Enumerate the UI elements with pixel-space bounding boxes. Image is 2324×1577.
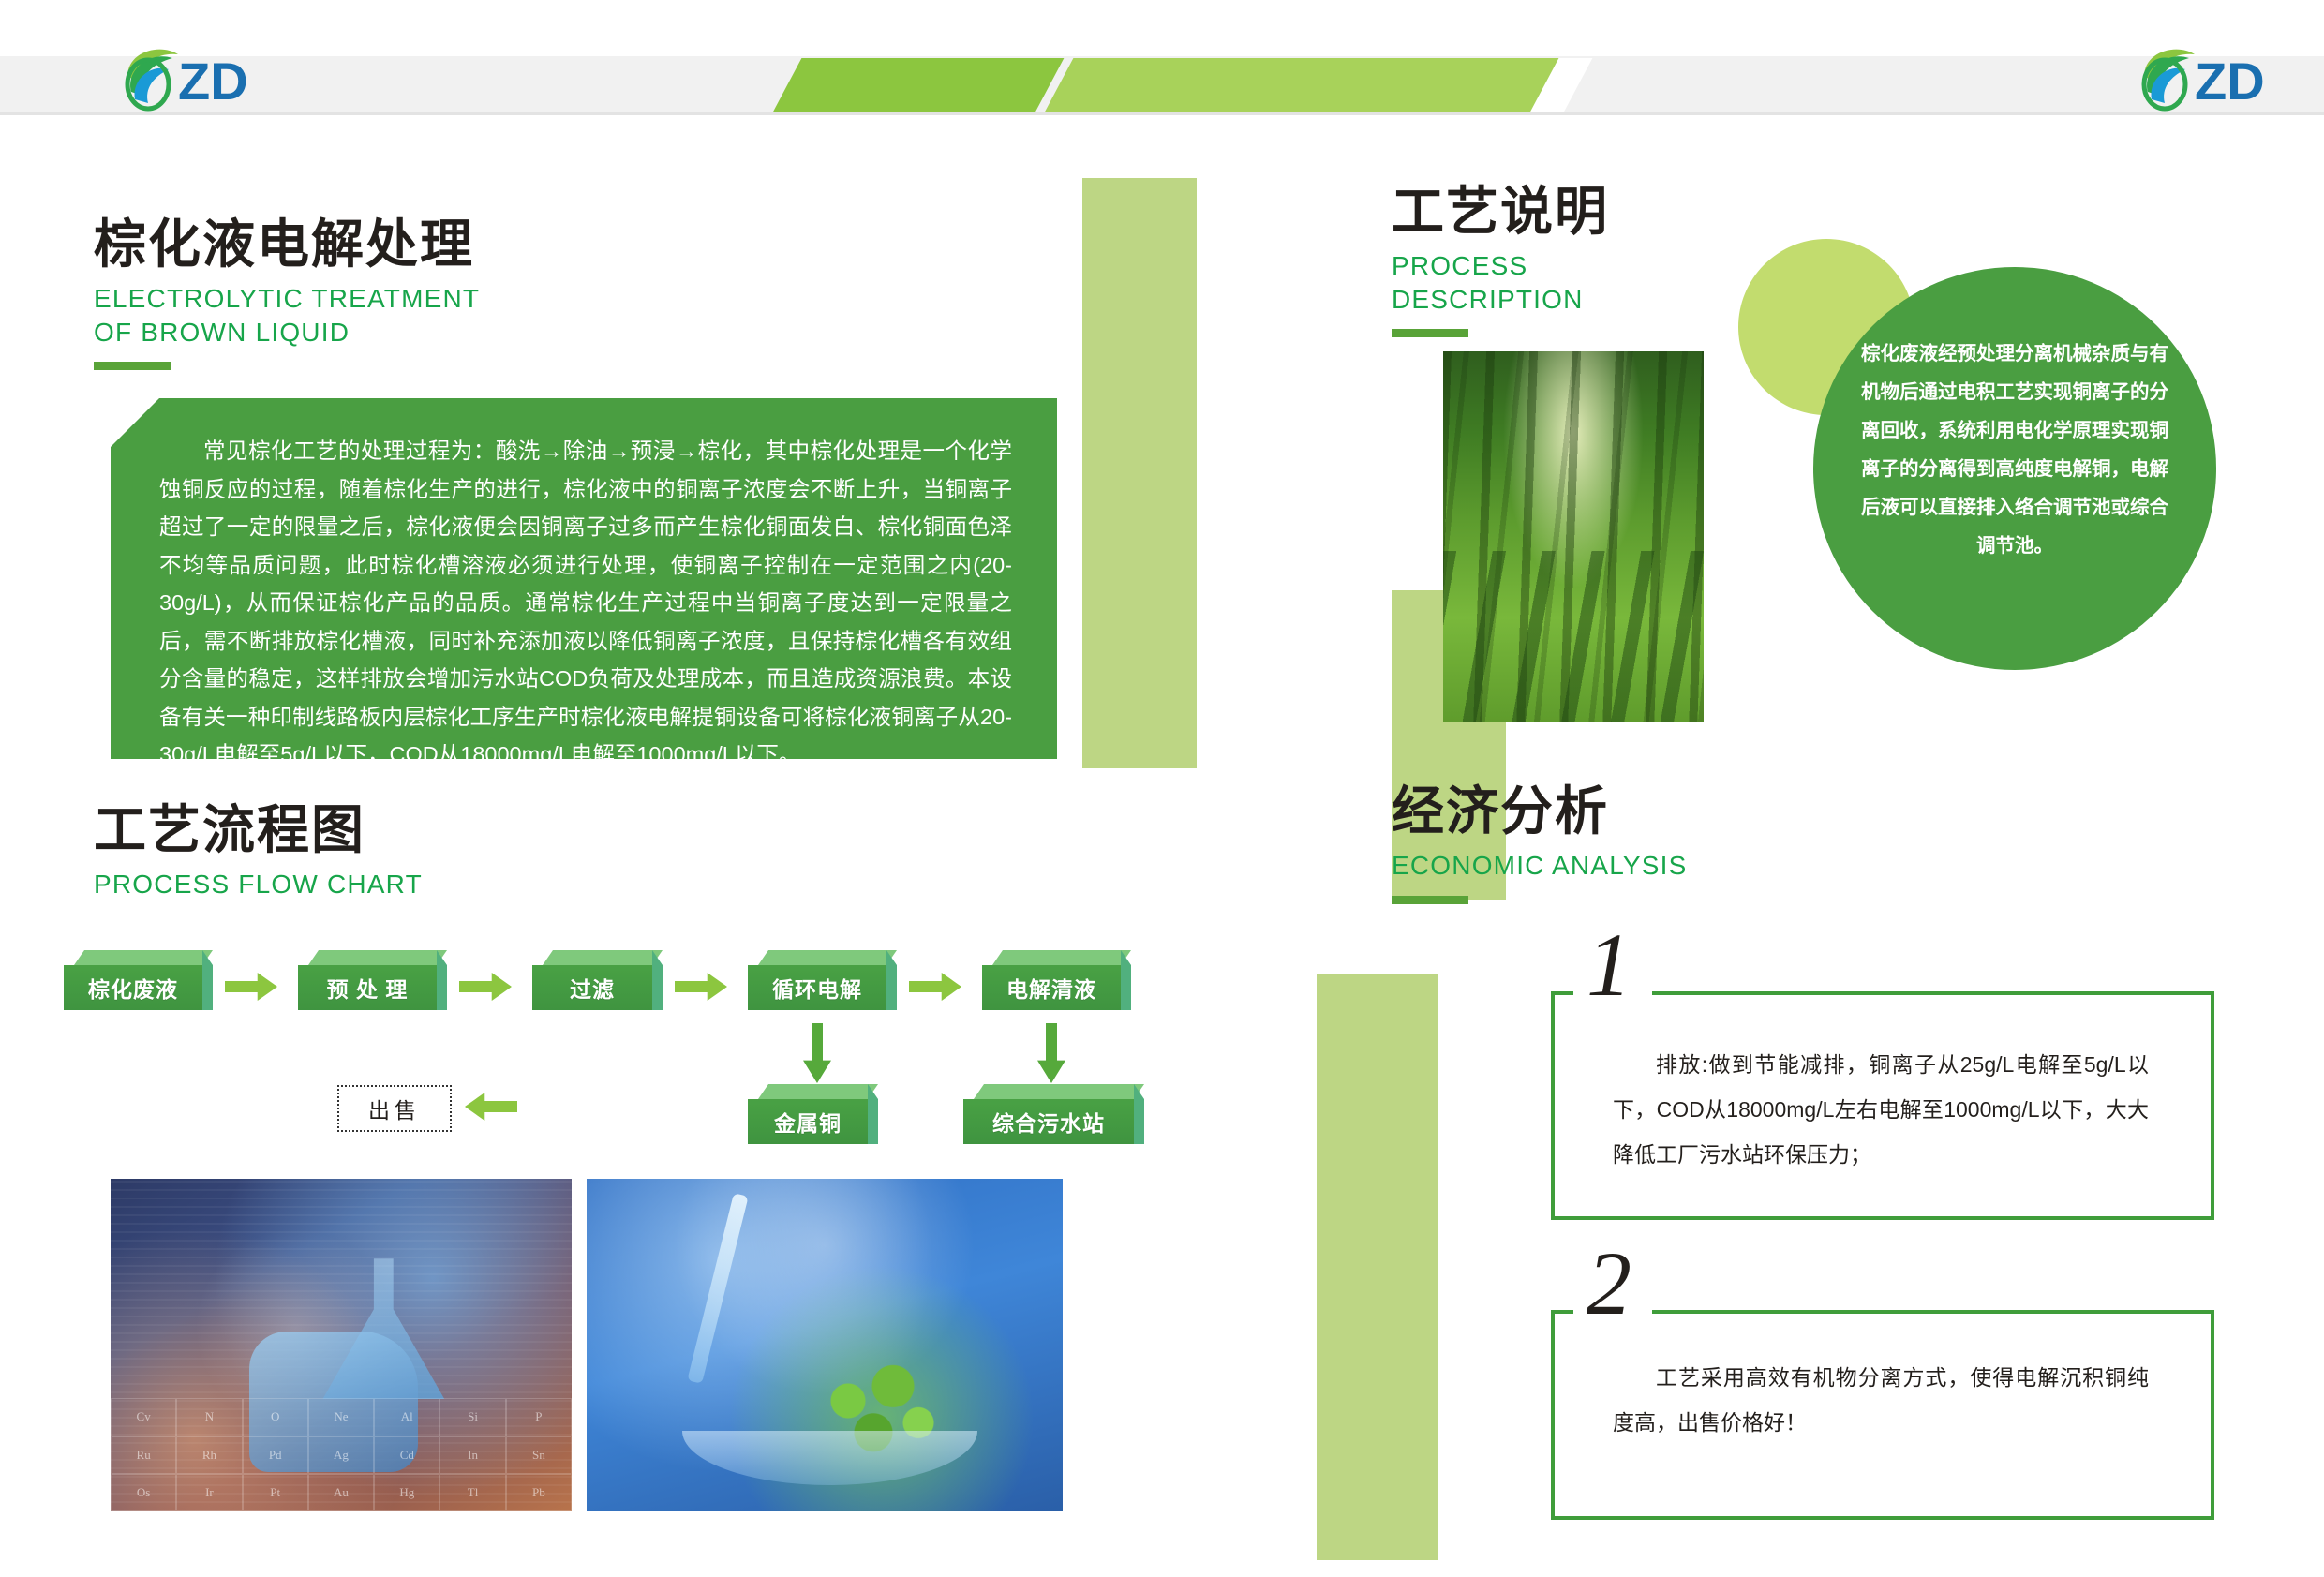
process-description-title: 工艺说明 <box>1392 183 1609 242</box>
process-description-title-en: PROCESS DESCRIPTION <box>1392 249 1609 317</box>
economic-analysis-title: 经济分析 <box>1392 782 1688 841</box>
periodic-table-overlay: Cv N O Ne Al Si P Ru Rh Pd Ag Cd In Sn O… <box>111 1398 572 1511</box>
element-cell: Os <box>111 1474 176 1511</box>
page-subtitle-en: ELECTROLYTIC TREATMENT OF BROWN LIQUID <box>94 282 480 350</box>
logo-right: ZD <box>2127 37 2287 118</box>
element-cell: Cv <box>111 1398 176 1436</box>
flow-chart-title: 工艺流程图 <box>94 801 423 860</box>
flow-node-waste-label: 棕化废液 <box>88 972 178 1004</box>
element-cell: Rh <box>176 1436 242 1474</box>
element-cell: N <box>176 1398 242 1436</box>
economic-card-2-number-wrap: 2 <box>1573 1239 1652 1329</box>
element-cell: Ne <box>308 1398 374 1436</box>
economic-card-2-number: 2 <box>1587 1233 1631 1333</box>
element-cell: Sn <box>506 1436 572 1474</box>
flow-node-wastewater-station[interactable]: 综合污水站 <box>963 1099 1134 1144</box>
element-cell: Tl <box>439 1474 505 1511</box>
flow-node-clear-liquid[interactable]: 电解清液 <box>982 965 1121 1010</box>
poster-page: ZD ZD 棕化液电解处理 ELECTROLYTIC TREATMENT OF … <box>0 0 2324 1577</box>
header-green-stripe-1 <box>773 58 1065 112</box>
forest-sunlight-photo <box>1443 351 1704 722</box>
economic-title-block: 经济分析 ECONOMIC ANALYSIS <box>1392 782 1688 904</box>
element-cell: Hg <box>374 1474 439 1511</box>
economic-card-1-number: 1 <box>1587 915 1631 1015</box>
flow-arrow-down-2-icon <box>1037 1023 1065 1083</box>
flow-title-block: 工艺流程图 PROCESS FLOW CHART <box>94 801 423 901</box>
element-cell: Cd <box>374 1436 439 1474</box>
flow-node-pretreat-label: 预 处 理 <box>327 972 409 1004</box>
economic-card-1-text: 排放:做到节能减排，铜离子从25g/L电解至5g/L以下，COD从18000mg… <box>1613 1042 2149 1177</box>
main-title-block: 棕化液电解处理 ELECTROLYTIC TREATMENT OF BROWN … <box>94 216 480 370</box>
flow-arrow-2-icon <box>459 973 512 1001</box>
flow-node-filter-label: 过滤 <box>570 972 615 1004</box>
flow-arrow-3-icon <box>675 973 727 1001</box>
economic-card-2-text: 工艺采用高效有机物分离方式，使得电解沉积铜纯度高，出售价格好！ <box>1613 1355 2149 1445</box>
process-description-text: 棕化废液经预处理分离机械杂质与有机物后通过电积工艺实现铜离子的分离回收，系统利用… <box>1860 335 2169 565</box>
title-underline <box>94 362 171 370</box>
economic-title-underline <box>1392 896 1468 904</box>
element-cell: P <box>506 1398 572 1436</box>
flow-node-electrolysis-label: 循环电解 <box>772 972 862 1004</box>
element-cell: Pb <box>506 1474 572 1511</box>
element-cell: Ag <box>308 1436 374 1474</box>
element-cell: Ru <box>111 1436 176 1474</box>
decor-chip-bottom <box>1317 974 1438 1560</box>
flow-node-pretreat[interactable]: 预 处 理 <box>298 965 437 1010</box>
flow-arrow-down-1-icon <box>803 1023 831 1083</box>
element-cell: Si <box>439 1398 505 1436</box>
flow-chart-title-en: PROCESS FLOW CHART <box>94 868 423 901</box>
flow-node-waste[interactable]: 棕化废液 <box>64 965 202 1010</box>
element-cell: Pd <box>243 1436 308 1474</box>
element-cell: Pt <box>243 1474 308 1511</box>
flow-node-filter[interactable]: 过滤 <box>532 965 652 1010</box>
process-title-underline <box>1392 329 1468 337</box>
process-description-circle: 棕化废液经预处理分离机械杂质与有机物后通过电积工艺实现铜离子的分离回收，系统利用… <box>1813 267 2216 670</box>
flow-node-clear-liquid-label: 电解清液 <box>1006 972 1096 1004</box>
flow-arrow-4-icon <box>909 973 961 1001</box>
svg-text:ZD: ZD <box>2195 52 2265 111</box>
intro-paragraph-panel: 常见棕化工艺的处理过程为：酸洗→除油→预浸→棕化，其中棕化处理是一个化学蚀铜反应… <box>111 398 1057 759</box>
lab-pipette-plant-photo <box>587 1179 1063 1511</box>
header-divider <box>0 112 2324 115</box>
element-cell: Ir <box>176 1474 242 1511</box>
decor-chip-left <box>1082 178 1197 768</box>
page-title: 棕化液电解处理 <box>94 216 480 275</box>
process-title-block: 工艺说明 PROCESS DESCRIPTION <box>1392 183 1609 337</box>
flow-node-electrolysis[interactable]: 循环电解 <box>748 965 886 1010</box>
element-cell: Al <box>374 1398 439 1436</box>
element-cell: O <box>243 1398 308 1436</box>
element-cell: Au <box>308 1474 374 1511</box>
flow-node-wastewater-station-label: 综合污水站 <box>992 1106 1105 1138</box>
flow-arrow-left-icon <box>465 1093 517 1121</box>
flow-node-metal-copper-label: 金属铜 <box>774 1106 842 1138</box>
logo-left: ZD <box>111 37 270 118</box>
lab-chemistry-photo: Cv N O Ne Al Si P Ru Rh Pd Ag Cd In Sn O… <box>111 1179 572 1511</box>
economic-analysis-title-en: ECONOMIC ANALYSIS <box>1392 849 1688 883</box>
flow-arrow-1-icon <box>225 973 277 1001</box>
intro-paragraph-text: 常见棕化工艺的处理过程为：酸洗→除油→预浸→棕化，其中棕化处理是一个化学蚀铜反应… <box>159 432 1012 774</box>
flow-node-sell-label: 出售 <box>368 1093 421 1124</box>
flow-node-metal-copper[interactable]: 金属铜 <box>748 1099 868 1144</box>
svg-text:ZD: ZD <box>178 52 248 111</box>
forest-shadow-overlay <box>1443 551 1704 722</box>
element-cell: In <box>439 1436 505 1474</box>
flow-node-sell[interactable]: 出售 <box>337 1085 452 1132</box>
economic-card-1-number-wrap: 1 <box>1573 920 1652 1010</box>
header-green-stripe-2 <box>1045 58 1580 112</box>
process-flow-chart: 棕化废液 预 处 理 过滤 循环电解 电解清液 出售 金属铜 <box>56 946 1087 1181</box>
